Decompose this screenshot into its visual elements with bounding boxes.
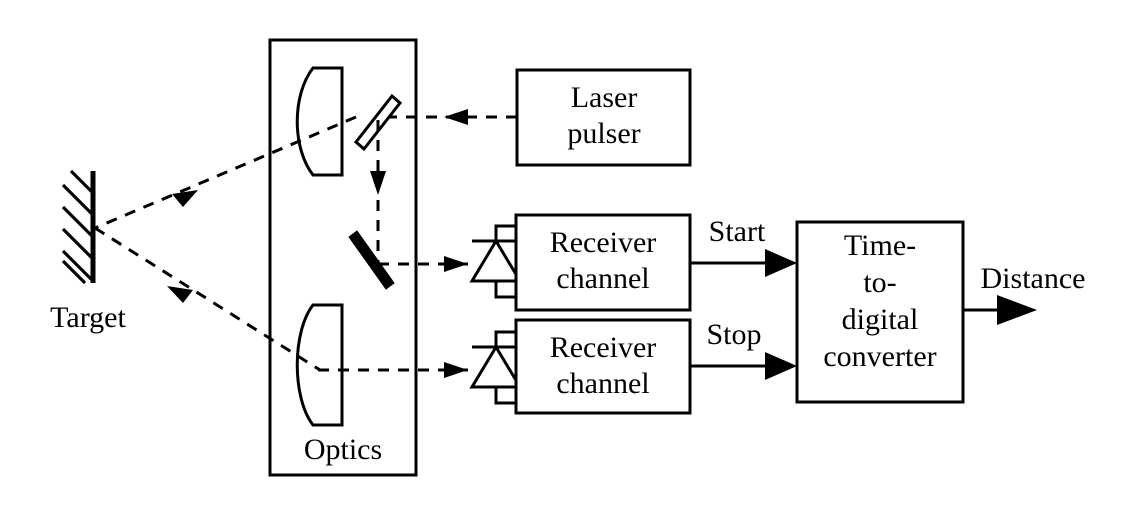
arrowhead-lens-to-stop-diode bbox=[444, 362, 468, 378]
photodiode-stop-triangle bbox=[472, 347, 520, 387]
laser-pulser-label-line1: Laser bbox=[571, 81, 638, 114]
arrowhead-laser-to-splitter bbox=[444, 109, 468, 125]
receiver-channel-start-label-line1: Receiver bbox=[550, 226, 657, 259]
photodiode-start-cathode-wire bbox=[496, 281, 516, 297]
stop-signal-label: Stop bbox=[706, 318, 761, 351]
optics-label: Optics bbox=[304, 433, 382, 466]
receive-lens bbox=[297, 305, 342, 425]
tdc-label-line3: digital bbox=[842, 303, 919, 336]
receiver-channel-stop-label-line2: channel bbox=[556, 367, 649, 400]
laser-pulser-label-line2: pulser bbox=[567, 117, 640, 150]
transmit-lens bbox=[297, 68, 342, 175]
diagram-canvas: Target Optics Laser pulser bbox=[0, 0, 1123, 527]
photodiode-start-anode-wire bbox=[496, 226, 516, 241]
photodiode-stop-cathode-wire bbox=[496, 387, 516, 403]
receiver-channel-start-label-line2: channel bbox=[556, 262, 649, 295]
target-wall bbox=[63, 171, 93, 283]
arrowhead-to-target bbox=[172, 190, 198, 207]
tdc-label-line4: converter bbox=[823, 340, 936, 373]
start-signal-label: Start bbox=[709, 215, 766, 248]
arrowhead-target-to-lens bbox=[167, 286, 193, 303]
photodiode-stop-anode-wire bbox=[496, 332, 516, 347]
arrowhead-mirror-to-start-diode bbox=[444, 256, 468, 272]
arrowhead-distance-output bbox=[997, 295, 1037, 325]
target-label: Target bbox=[50, 301, 126, 334]
distance-output-label: Distance bbox=[981, 262, 1086, 295]
arrowhead-stop-signal bbox=[765, 352, 797, 380]
receiver-channel-stop-label-line1: Receiver bbox=[550, 331, 657, 364]
photodiode-start bbox=[472, 226, 520, 297]
photodiode-stop bbox=[472, 332, 520, 403]
arrowhead-start-signal bbox=[765, 249, 797, 277]
tdc-label-line1: Time- bbox=[844, 229, 916, 262]
lidar-block-diagram: Target Optics Laser pulser bbox=[0, 0, 1123, 527]
tdc-label-line2: to- bbox=[863, 266, 896, 299]
target-hatching bbox=[63, 171, 93, 283]
photodiode-start-triangle bbox=[472, 241, 520, 281]
